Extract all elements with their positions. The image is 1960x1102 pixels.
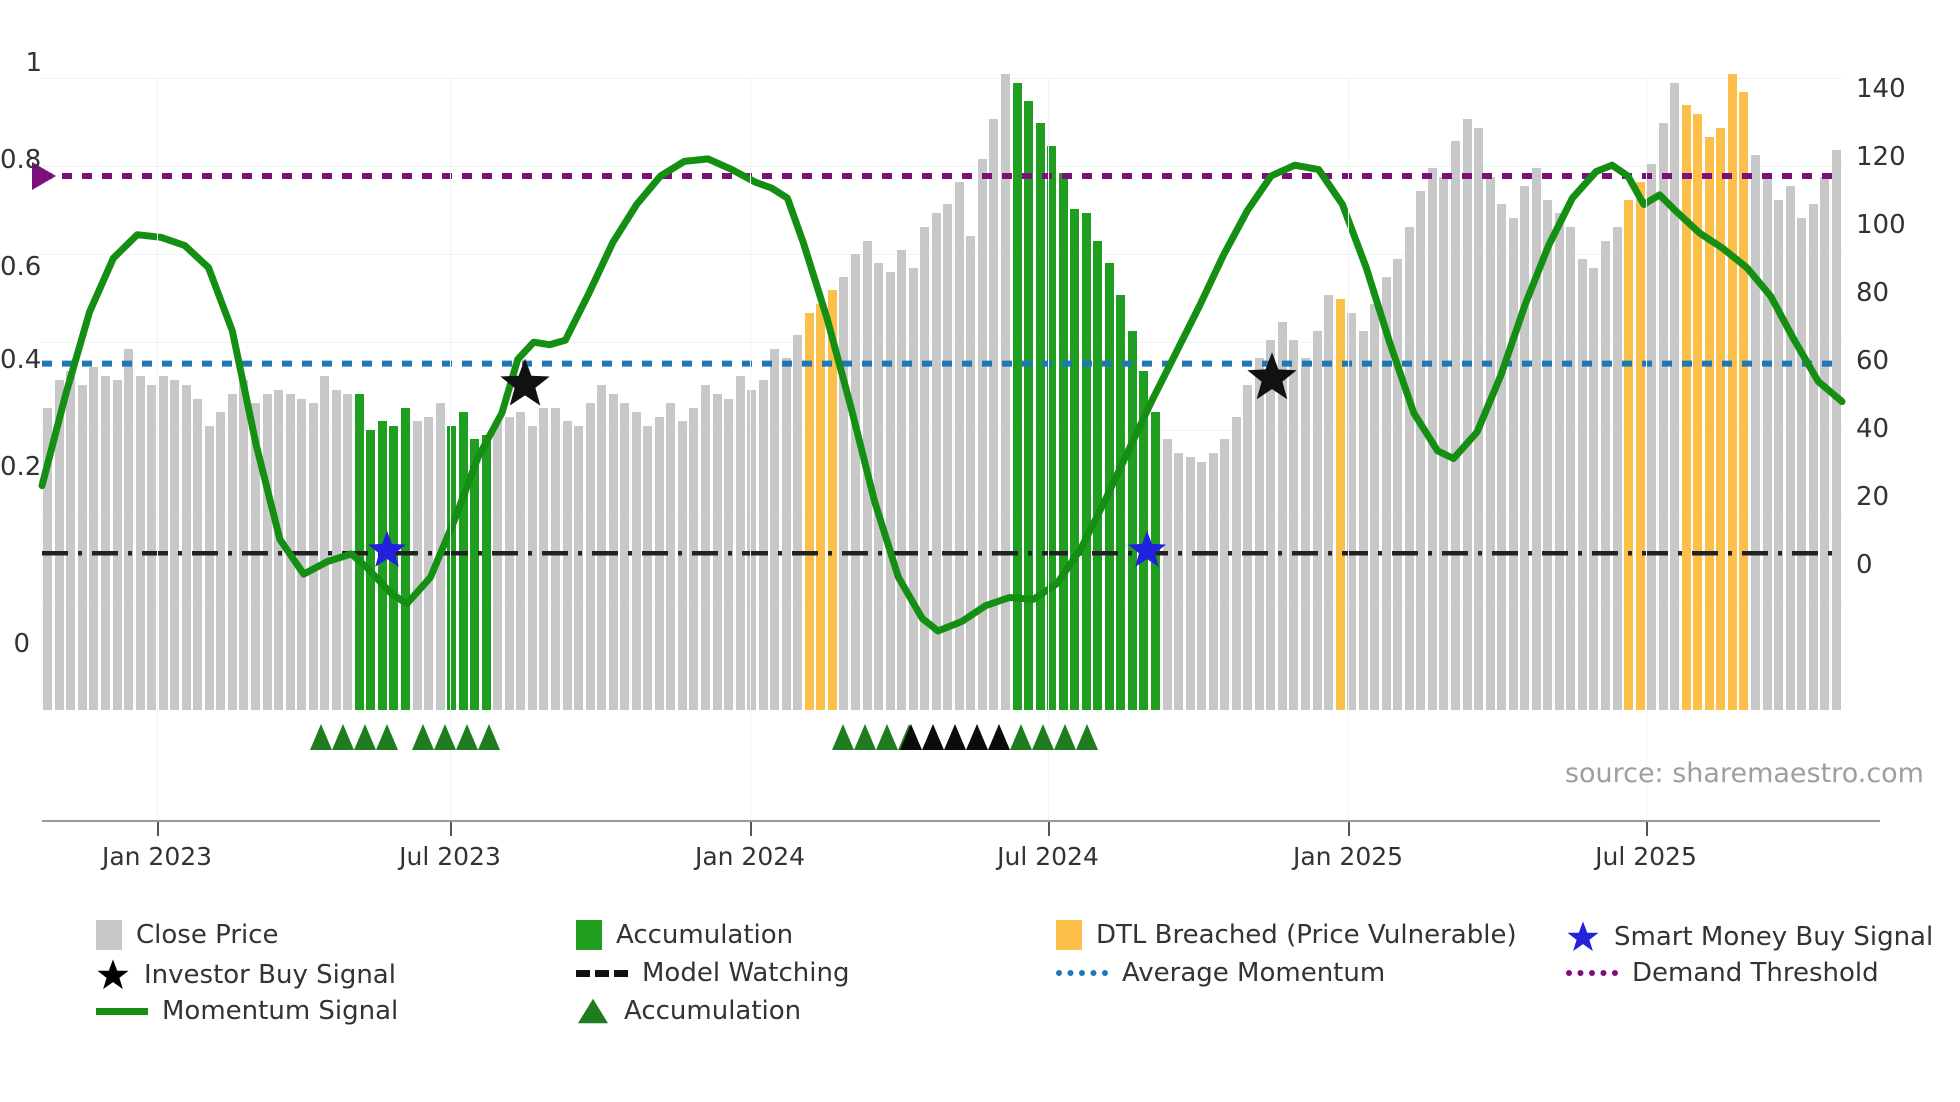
x-axis-label: Jul 2024 bbox=[997, 842, 1099, 871]
right-axis-tick: 140 bbox=[1856, 74, 1906, 104]
plot-area bbox=[42, 78, 1842, 710]
left-axis-tick: 0.4 bbox=[0, 345, 30, 375]
chart-legend: Close Price Accumulation DTL Breached (P… bbox=[96, 920, 1896, 1034]
investor-buy-star-icon bbox=[96, 958, 130, 992]
x-axis-label: Jul 2025 bbox=[1595, 842, 1697, 871]
accumulation-triangle-marker bbox=[310, 724, 332, 750]
accumulation-triangle-marker bbox=[1010, 724, 1032, 750]
legend-item-close-price[interactable]: Close Price bbox=[96, 920, 279, 950]
legend-label: Accumulation bbox=[616, 920, 793, 950]
legend-item-demand-threshold[interactable]: Demand Threshold bbox=[1566, 958, 1879, 988]
legend-item-investor-buy[interactable]: Investor Buy Signal bbox=[96, 958, 396, 992]
vertical-gridline bbox=[450, 78, 451, 710]
accumulation-triangle-marker bbox=[854, 724, 876, 750]
dtl-breached-swatch-icon bbox=[1056, 920, 1082, 950]
legend-item-momentum-signal[interactable]: Momentum Signal bbox=[96, 996, 398, 1026]
x-axis-line bbox=[42, 820, 1880, 822]
accumulation-triangle-marker bbox=[354, 724, 376, 750]
source-note: source: sharemaestro.com bbox=[1565, 758, 1924, 789]
right-axis-tick: 120 bbox=[1856, 142, 1906, 172]
accumulation-triangle-marker bbox=[1032, 724, 1054, 750]
investor-buy-signal-star-icon bbox=[1247, 352, 1296, 399]
smart-money-buy-signal-star-icon bbox=[1128, 531, 1166, 567]
momentum-signal-line bbox=[42, 159, 1842, 631]
accumulation-triangle-marker bbox=[876, 724, 898, 750]
legend-item-smart-money-buy[interactable]: Smart Money Buy Signal bbox=[1566, 920, 1933, 954]
chart-page: 0 0.2 0.4 0.6 0.8 1 0 20 40 60 80 100 12… bbox=[0, 0, 1960, 1102]
legend-label: Momentum Signal bbox=[162, 996, 398, 1026]
accumulation-triangle-icon bbox=[576, 996, 610, 1026]
x-axis-tick bbox=[450, 822, 452, 836]
accumulation-triangle-marker bbox=[832, 724, 854, 750]
accumulation-triangle-marker bbox=[376, 724, 398, 750]
accumulation-triangle-marker bbox=[478, 724, 500, 750]
x-axis-tick bbox=[157, 822, 159, 836]
x-axis-label: Jan 2023 bbox=[102, 842, 212, 871]
legend-label: Average Momentum bbox=[1122, 958, 1385, 988]
legend-label: Model Watching bbox=[642, 958, 849, 988]
left-axis-tick: 0.8 bbox=[0, 145, 30, 175]
smart-money-star-icon bbox=[1566, 920, 1600, 954]
legend-label: DTL Breached (Price Vulnerable) bbox=[1096, 920, 1517, 950]
demand-threshold-line-icon bbox=[1566, 970, 1618, 976]
legend-row: Momentum Signal Accumulation bbox=[96, 996, 1896, 1034]
legend-label: Accumulation bbox=[624, 996, 801, 1026]
left-axis-tick: 0.6 bbox=[0, 252, 30, 282]
legend-label: Demand Threshold bbox=[1632, 958, 1879, 988]
vertical-gridline bbox=[1646, 78, 1647, 710]
right-axis-tick: 0 bbox=[1856, 550, 1873, 580]
left-axis-tick: 0 bbox=[0, 629, 30, 659]
x-axis-label: Jan 2025 bbox=[1293, 842, 1403, 871]
legend-label: Close Price bbox=[136, 920, 279, 950]
x-axis-tick bbox=[750, 822, 752, 836]
accumulation-triangle-marker bbox=[1054, 724, 1076, 750]
x-axis-tick bbox=[1348, 822, 1350, 836]
vertical-gridline bbox=[1348, 78, 1349, 710]
vertical-gridline bbox=[1048, 78, 1049, 710]
legend-row: Investor Buy Signal Model Watching Avera… bbox=[96, 958, 1896, 996]
accumulation-triangle-marker bbox=[434, 724, 456, 750]
right-axis-tick: 60 bbox=[1856, 346, 1889, 376]
legend-item-average-momentum[interactable]: Average Momentum bbox=[1056, 958, 1385, 988]
right-axis-tick: 100 bbox=[1856, 210, 1906, 240]
x-axis-tick bbox=[1048, 822, 1050, 836]
smart-money-buy-signal-star-icon bbox=[368, 531, 406, 567]
accumulation-triangle-marker bbox=[332, 724, 354, 750]
vertical-gridline bbox=[157, 78, 158, 710]
right-axis-tick: 80 bbox=[1856, 278, 1889, 308]
right-axis-tick: 20 bbox=[1856, 482, 1889, 512]
momentum-signal-line-icon bbox=[96, 1008, 148, 1015]
accumulation-triangle-marker bbox=[900, 724, 922, 750]
accumulation-swatch-icon bbox=[576, 920, 602, 950]
x-axis-tick bbox=[1646, 822, 1648, 836]
legend-label: Smart Money Buy Signal bbox=[1614, 922, 1933, 952]
legend-row: Close Price Accumulation DTL Breached (P… bbox=[96, 920, 1896, 958]
legend-item-dtl-breached[interactable]: DTL Breached (Price Vulnerable) bbox=[1056, 920, 1517, 950]
legend-item-accumulation-bar[interactable]: Accumulation bbox=[576, 920, 793, 950]
close-price-swatch-icon bbox=[96, 920, 122, 950]
accumulation-triangle-marker bbox=[988, 724, 1010, 750]
accumulation-triangle-marker bbox=[412, 724, 434, 750]
legend-item-model-watching[interactable]: Model Watching bbox=[576, 958, 849, 988]
average-momentum-line-icon bbox=[1056, 970, 1108, 976]
model-watching-line-icon bbox=[576, 970, 628, 977]
legend-label: Investor Buy Signal bbox=[144, 960, 396, 990]
x-axis-label: Jan 2024 bbox=[695, 842, 805, 871]
accumulation-triangle-marker bbox=[944, 724, 966, 750]
accumulation-triangle-marker bbox=[1076, 724, 1098, 750]
vertical-gridline bbox=[750, 78, 751, 710]
legend-item-accumulation-triangle[interactable]: Accumulation bbox=[576, 996, 801, 1026]
accumulation-triangle-marker bbox=[456, 724, 478, 750]
accumulation-triangle-marker bbox=[966, 724, 988, 750]
left-axis-tick: 1 bbox=[12, 48, 42, 78]
right-axis-tick: 40 bbox=[1856, 414, 1889, 444]
accumulation-triangle-marker bbox=[922, 724, 944, 750]
chart-overlay bbox=[42, 78, 1842, 710]
x-axis-label: Jul 2023 bbox=[399, 842, 501, 871]
left-axis-tick: 0.2 bbox=[0, 452, 30, 482]
